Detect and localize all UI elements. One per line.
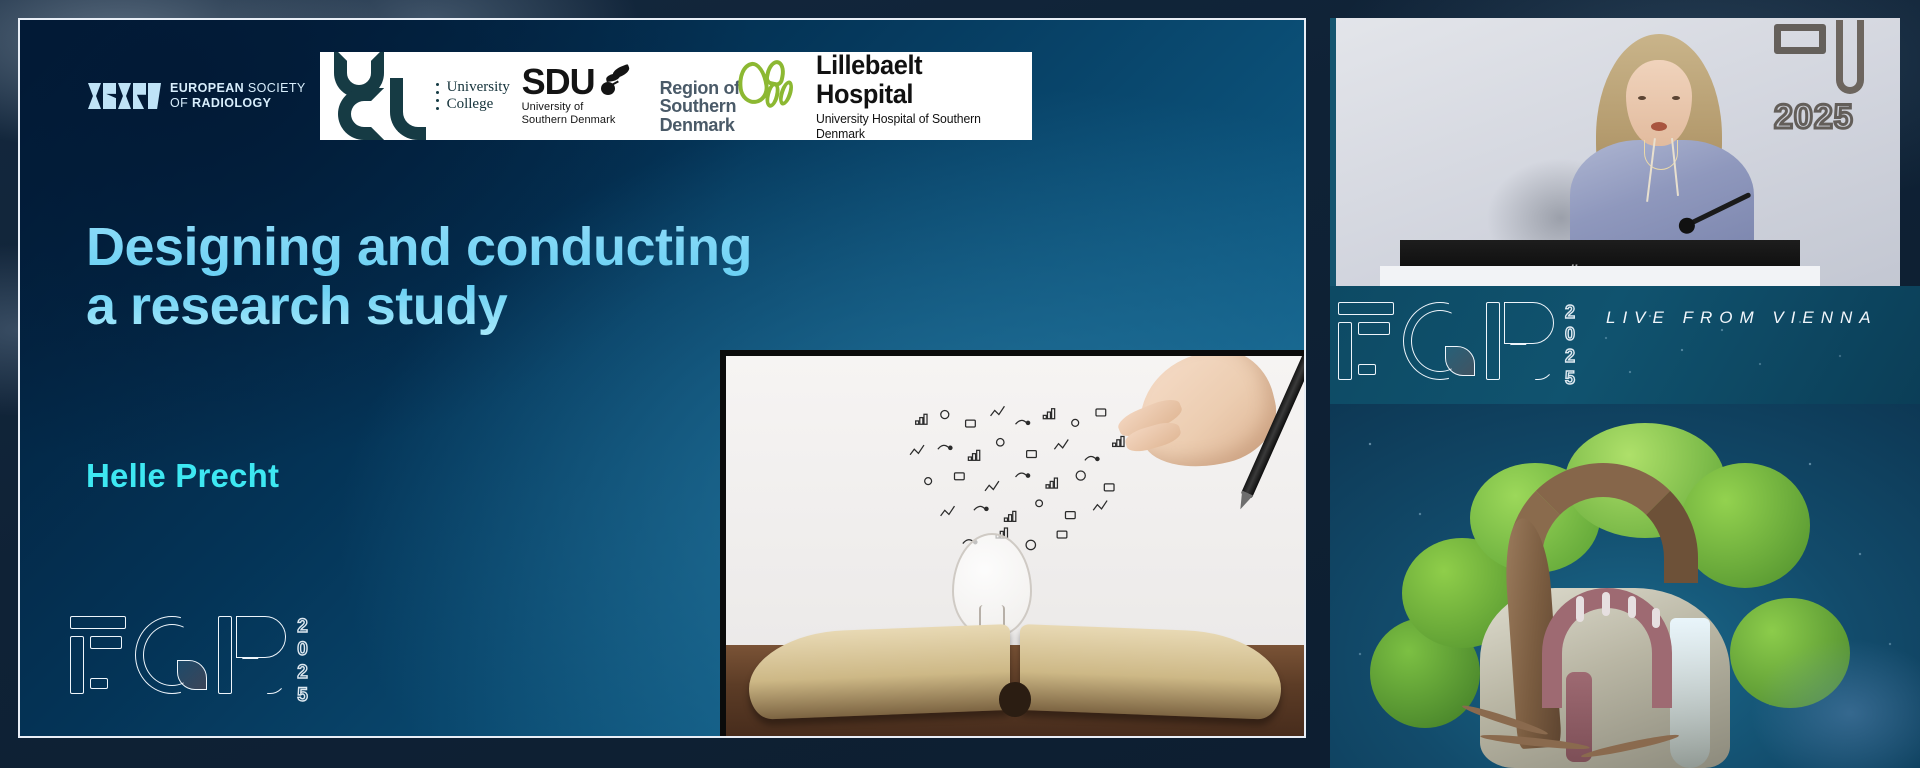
slide-title-line2: a research study [86, 277, 856, 336]
sdu-line1: University of [522, 101, 616, 114]
ecr-letter-c-icon [135, 616, 209, 694]
ecr-letter-f-icon [1338, 302, 1394, 380]
sdu-logo: SDU University of Southern Denmark [512, 52, 652, 140]
sdu-subtitle: University of Southern Denmark [522, 101, 616, 126]
lectern-front-panel [1380, 266, 1820, 286]
hand-icon [1091, 350, 1281, 498]
backdrop-ecr-logo-icon: 2025 [1774, 24, 1864, 137]
speaker-video-feed[interactable]: 2025 iiyama [1330, 18, 1900, 286]
ecr-logo: 2025 [70, 616, 312, 708]
esr-logo-mark-icon [88, 83, 161, 109]
vessel-branch [1652, 608, 1660, 628]
lillebaelt-hospital-logo: Lillebaelt Hospital University Hospital … [802, 52, 1032, 140]
lillebaelt-name: Lillebaelt Hospital [816, 51, 1019, 108]
ecr-year: 2025 [293, 616, 312, 708]
live-from-vienna-text: LIVE FROM VIENNA [1606, 308, 1878, 328]
artwork-haze [1750, 638, 1920, 768]
ecr-letters [70, 616, 288, 694]
ecr-letter-f-icon [70, 616, 126, 694]
sdu-line2: Southern Denmark [522, 114, 616, 127]
lillebaelt-subtitle: University Hospital of Southern Denmark [816, 111, 1019, 141]
speaker-figure [1564, 34, 1760, 260]
open-book-icon [749, 629, 1281, 715]
sponsor-logo-strip: EUROPEAN SOCIETY OF RADIOLOGY U [88, 52, 1032, 140]
slide-title-line1: Designing and conducting [86, 218, 856, 277]
esr-logo: EUROPEAN SOCIETY OF RADIOLOGY [88, 81, 306, 111]
esr-line1-bold: EUROPEAN [170, 81, 244, 95]
vessel-branch [1602, 592, 1610, 616]
ucl-monogram-icon [332, 54, 428, 138]
ecr-letter-r-icon [218, 616, 288, 694]
esr-line1-light: SOCIETY [248, 81, 306, 95]
presentation-slide-frame[interactable]: EUROPEAN SOCIETY OF RADIOLOGY U [18, 18, 1306, 738]
esr-logo-text: EUROPEAN SOCIETY OF RADIOLOGY [170, 81, 306, 111]
vessel-branch [1628, 596, 1636, 618]
ecr-letters-band [1338, 302, 1556, 380]
tree-foliage [1680, 463, 1810, 588]
slide-canvas: EUROPEAN SOCIETY OF RADIOLOGY U [20, 20, 1304, 736]
live-from-vienna-band: 2025 LIVE FROM VIENNA [1330, 286, 1920, 404]
ucl-logo: University College [320, 52, 512, 140]
ucl-logo-text: University College [447, 79, 510, 114]
right-column: 2025 iiyama [1330, 0, 1920, 768]
vessel-branch [1576, 596, 1584, 622]
ecr-logo-band: 2025 [1338, 302, 1579, 390]
ucl-dots-icon [436, 83, 439, 110]
ecr-letter-r-icon [1486, 302, 1556, 380]
screen: EUROPEAN SOCIETY OF RADIOLOGY U [0, 0, 1920, 768]
region-leaf-icon [736, 58, 798, 120]
esr-line2-light: OF [170, 96, 188, 110]
ecr-letter-c-icon [1403, 302, 1477, 380]
lightbulb-book-photo [726, 356, 1304, 738]
slide-illustration [720, 350, 1306, 738]
apple-branch-icon [600, 67, 632, 95]
backdrop-year: 2025 [1774, 98, 1864, 137]
conference-artwork [1330, 404, 1920, 768]
slide-author-name: Helle Precht [86, 457, 279, 495]
sdu-acronym: SDU [522, 65, 595, 99]
esr-line2-bold: RADIOLOGY [192, 96, 271, 110]
ecr-year-band: 2025 [1561, 302, 1579, 390]
ucl-line2: College [447, 96, 510, 113]
waterfall [1670, 618, 1710, 768]
region-of-southern-denmark-logo: Region of Southern Denmark [652, 52, 802, 140]
ucl-line1: University [447, 79, 510, 96]
slide-title: Designing and conducting a research stud… [86, 218, 856, 337]
